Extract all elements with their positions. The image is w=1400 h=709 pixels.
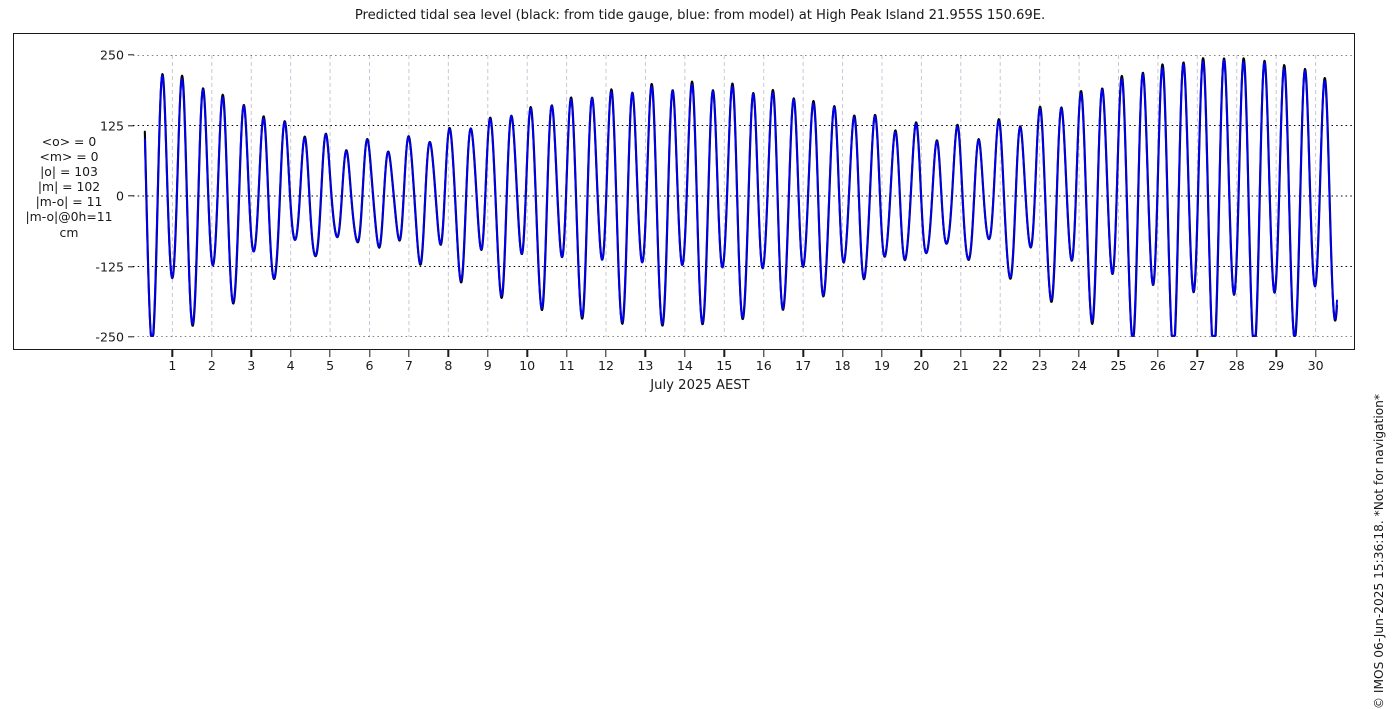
chart-title: Predicted tidal sea level (black: from t… [0, 8, 1400, 23]
x-tick-label: 6 [350, 358, 390, 373]
x-tick-label: 27 [1177, 358, 1217, 373]
x-tick-mark [448, 350, 449, 357]
x-tick-mark [1078, 350, 1079, 357]
x-tick-mark [329, 350, 330, 357]
x-tick-label: 28 [1217, 358, 1257, 373]
x-tick-label: 17 [783, 358, 823, 373]
x-tick-mark [566, 350, 567, 357]
x-tick-mark [211, 350, 212, 357]
x-tick-label: 29 [1256, 358, 1296, 373]
x-tick-mark [605, 350, 606, 357]
x-tick-label: 22 [980, 358, 1020, 373]
x-tick-mark [1157, 350, 1158, 357]
x-tick-mark [802, 350, 803, 357]
tidal-chart-page: Predicted tidal sea level (black: from t… [0, 0, 1400, 400]
x-tick-label: 5 [310, 358, 350, 373]
x-tick-label: 10 [507, 358, 547, 373]
x-tick-label: 9 [468, 358, 508, 373]
x-tick-label: 3 [231, 358, 271, 373]
x-tick-mark [645, 350, 646, 357]
x-tick-label: 30 [1296, 358, 1336, 373]
x-tick-mark [251, 350, 252, 357]
x-tick-mark [1197, 350, 1198, 357]
x-tick-mark [1236, 350, 1237, 357]
copyright-text: © IMOS 06-Jun-2025 15:36:18. *Not for na… [1372, 394, 1386, 709]
x-tick-mark [724, 350, 725, 357]
x-tick-label: 11 [547, 358, 587, 373]
y-tick-label: 250 [80, 48, 124, 63]
x-tick-label: 1 [152, 358, 192, 373]
x-tick-label: 20 [901, 358, 941, 373]
x-tick-mark [1275, 350, 1276, 357]
x-tick-mark [960, 350, 961, 357]
x-tick-mark [1000, 350, 1001, 357]
x-tick-label: 13 [625, 358, 665, 373]
statistics-block: <o> = 0 <m> = 0 |o| = 103 |m| = 102 |m-o… [8, 134, 130, 240]
x-tick-label: 4 [271, 358, 311, 373]
stat-mean-observed: <o> = 0 [8, 134, 130, 149]
x-tick-label: 2 [192, 358, 232, 373]
x-tick-mark [921, 350, 922, 357]
x-tick-mark [763, 350, 764, 357]
x-tick-mark [526, 350, 527, 357]
x-tick-label: 24 [1059, 358, 1099, 373]
x-tick-mark [842, 350, 843, 357]
x-tick-mark [408, 350, 409, 357]
x-tick-mark [487, 350, 488, 357]
plot-area [133, 55, 1355, 337]
x-tick-mark [172, 350, 173, 357]
stat-abs-observed: |o| = 103 [8, 164, 130, 179]
stat-abs-diff-0h: |m-o|@0h=11 [8, 209, 130, 224]
y-tick-label: -125 [80, 259, 124, 274]
x-tick-mark [1315, 350, 1316, 357]
y-tick-label: 0 [80, 189, 124, 204]
x-tick-label: 16 [744, 358, 784, 373]
x-tick-mark [1118, 350, 1119, 357]
x-tick-label: 21 [941, 358, 981, 373]
stat-mean-model: <m> = 0 [8, 149, 130, 164]
x-tick-mark [290, 350, 291, 357]
x-tick-mark [881, 350, 882, 357]
x-tick-label: 8 [428, 358, 468, 373]
x-tick-label: 14 [665, 358, 705, 373]
x-tick-label: 26 [1138, 358, 1178, 373]
x-tick-mark [684, 350, 685, 357]
x-tick-label: 25 [1098, 358, 1138, 373]
x-tick-mark [1039, 350, 1040, 357]
x-tick-mark [369, 350, 370, 357]
x-tick-label: 12 [586, 358, 626, 373]
x-axis-title: July 2025 AEST [0, 378, 1400, 393]
tidal-series-svg [133, 55, 1355, 337]
copyright-notice: © IMOS 06-Jun-2025 15:36:18. *Not for na… [1380, 0, 1400, 400]
y-tick-label: -250 [80, 330, 124, 345]
x-tick-label: 23 [1020, 358, 1060, 373]
y-tick-label: 125 [80, 118, 124, 133]
x-tick-label: 18 [823, 358, 863, 373]
x-tick-label: 15 [704, 358, 744, 373]
x-tick-label: 19 [862, 358, 902, 373]
x-tick-label: 7 [389, 358, 429, 373]
stat-units: cm [8, 225, 130, 240]
